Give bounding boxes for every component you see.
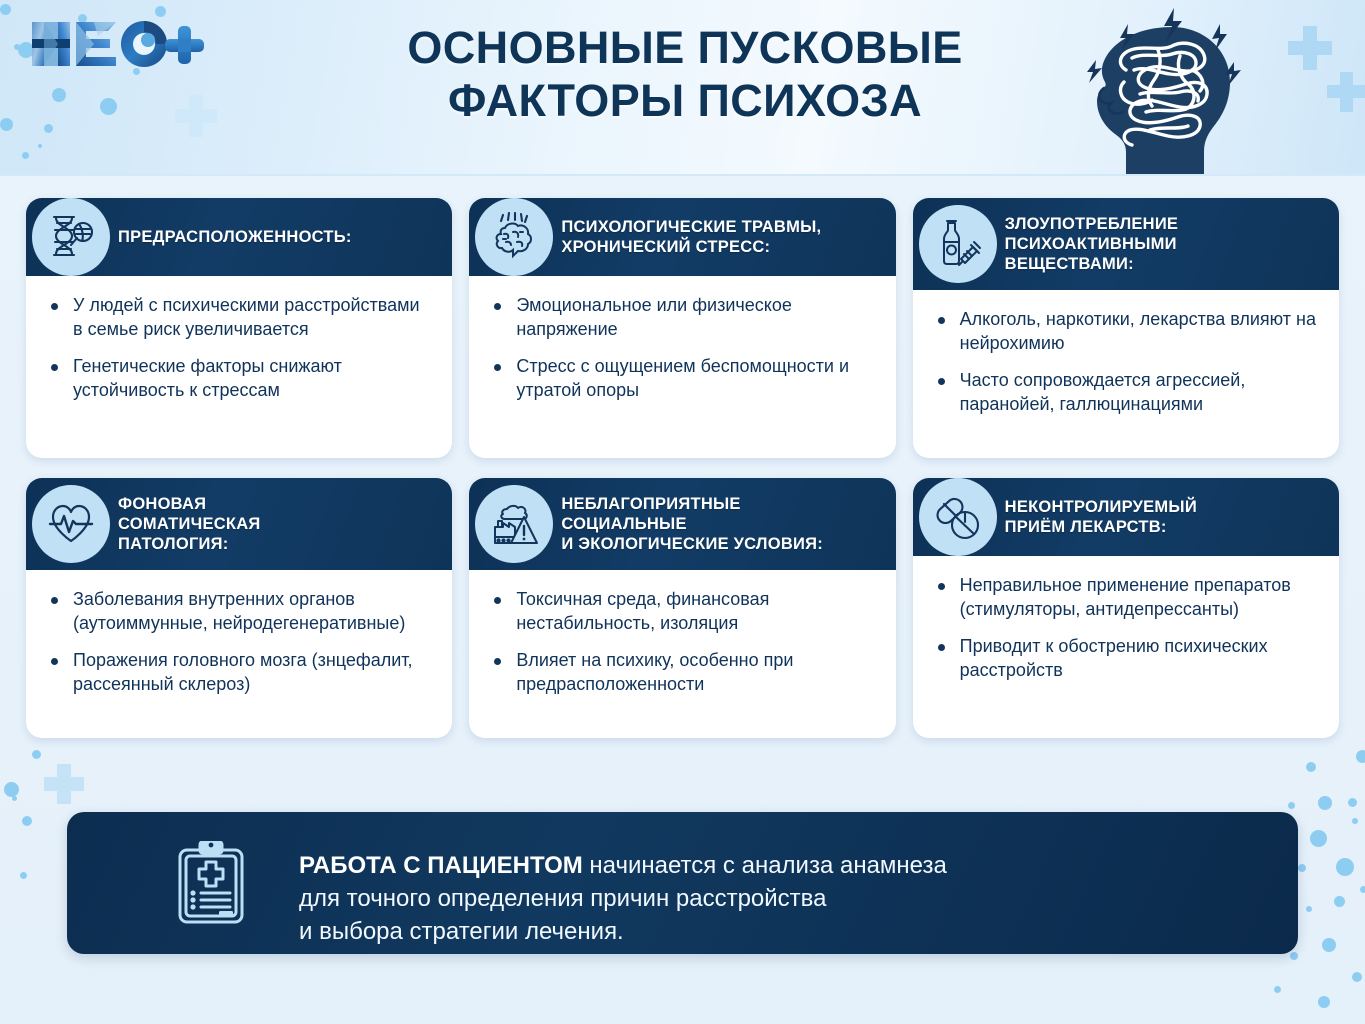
summary-banner: РАБОТА С ПАЦИЕНТОМ начинается с анализа … bbox=[67, 812, 1298, 954]
page-title-line2: ФАКТОРЫ ПСИХОЗА bbox=[300, 75, 1070, 128]
deco-dot bbox=[0, 4, 11, 15]
bullet-item: У людей с психическими расстройствами в … bbox=[48, 294, 432, 342]
dna-magnifier-icon bbox=[32, 198, 110, 276]
factor-card-predisposition[interactable]: ПРЕДРАСПОЛОЖЕННОСТЬ: У людей с психическ… bbox=[26, 198, 452, 458]
deco-dot bbox=[32, 750, 41, 759]
bullet-item: Стресс с ощущением беспомощности и утрат… bbox=[491, 355, 875, 403]
brand-logo[interactable] bbox=[28, 14, 206, 74]
card-header: ЗЛОУПОТРЕБЛЕНИЕ ПСИХОАКТИВНЫМИ ВЕЩЕСТВАМ… bbox=[913, 198, 1339, 290]
deco-dot bbox=[1288, 802, 1295, 809]
deco-cross-icon bbox=[1327, 72, 1365, 112]
deco-dot bbox=[1336, 858, 1354, 876]
card-title: ПСИХОЛОГИЧЕСКИЕ ТРАВМЫ, ХРОНИЧЕСКИЙ СТРЕ… bbox=[561, 217, 821, 258]
bullet-item: Генетические факторы снижают устойчивост… bbox=[48, 355, 432, 403]
factor-card-uncontrolled-medication[interactable]: НЕКОНТРОЛИРУЕМЫЙ ПРИЁМ ЛЕКАРСТВ: Неправи… bbox=[913, 478, 1339, 738]
deco-dot bbox=[1360, 886, 1365, 893]
bullet-list: Алкоголь, наркотики, лекарства влияют на… bbox=[935, 308, 1319, 417]
deco-dot bbox=[1318, 796, 1332, 810]
deco-dot bbox=[22, 152, 29, 159]
bullet-item: Влияет на психику, особенно при предрасп… bbox=[491, 649, 875, 697]
bullet-item: Алкоголь, наркотики, лекарства влияют на… bbox=[935, 308, 1319, 356]
card-header: ФОНОВАЯ СОМАТИЧЕСКАЯ ПАТОЛОГИЯ: bbox=[26, 478, 452, 570]
card-body: Заболевания внутренних органов (аутоимму… bbox=[26, 570, 452, 738]
card-title: ПРЕДРАСПОЛОЖЕННОСТЬ: bbox=[118, 227, 352, 247]
bullet-item: Токсичная среда, финансовая нестабильнос… bbox=[491, 588, 875, 636]
deco-dot bbox=[1348, 798, 1357, 807]
card-body: Алкоголь, наркотики, лекарства влияют на… bbox=[913, 290, 1339, 458]
deco-dot bbox=[1322, 938, 1336, 952]
card-body: Токсичная среда, финансовая нестабильнос… bbox=[469, 570, 895, 738]
bullet-item: Заболевания внутренних органов (аутоимму… bbox=[48, 588, 432, 636]
card-title: ЗЛОУПОТРЕБЛЕНИЕ ПСИХОАКТИВНЫМИ ВЕЩЕСТВАМ… bbox=[1005, 214, 1179, 275]
bottle-syringe-icon bbox=[919, 205, 997, 283]
deco-dot bbox=[44, 124, 53, 133]
card-title: ФОНОВАЯ СОМАТИЧЕСКАЯ ПАТОЛОГИЯ: bbox=[118, 494, 260, 555]
factor-card-social-ecological[interactable]: НЕБЛАГОПРИЯТНЫЕ СОЦИАЛЬНЫЕ И ЭКОЛОГИЧЕСК… bbox=[469, 478, 895, 738]
factor-card-substance-abuse[interactable]: ЗЛОУПОТРЕБЛЕНИЕ ПСИХОАКТИВНЫМИ ВЕЩЕСТВАМ… bbox=[913, 198, 1339, 458]
card-title: НЕБЛАГОПРИЯТНЫЕ СОЦИАЛЬНЫЕ И ЭКОЛОГИЧЕСК… bbox=[561, 494, 823, 555]
pills-icon bbox=[919, 478, 997, 556]
deco-dot bbox=[1306, 906, 1312, 912]
bullet-item: Часто сопровождается агрессией, паранойе… bbox=[935, 369, 1319, 417]
summary-banner-text: РАБОТА С ПАЦИЕНТОМ начинается с анализа … bbox=[299, 817, 947, 949]
header-band: ОСНОВНЫЕ ПУСКОВЫЕ ФАКТОРЫ ПСИХОЗА bbox=[0, 0, 1365, 176]
factor-card-somatic-pathology[interactable]: ФОНОВАЯ СОМАТИЧЕСКАЯ ПАТОЛОГИЯ: Заболева… bbox=[26, 478, 452, 738]
card-header: ПРЕДРАСПОЛОЖЕННОСТЬ: bbox=[26, 198, 452, 276]
card-body: Эмоциональное или физическое напряжение … bbox=[469, 276, 895, 458]
deco-dot bbox=[52, 88, 66, 102]
deco-dot bbox=[1310, 830, 1327, 847]
page-title: ОСНОВНЫЕ ПУСКОВЫЕ ФАКТОРЫ ПСИХОЗА bbox=[300, 22, 1070, 127]
bullet-item: Неправильное применение препаратов (стим… bbox=[935, 574, 1319, 622]
bullet-item: Поражения головного мозга (знцефалит, ра… bbox=[48, 649, 432, 697]
factor-card-psychological-trauma[interactable]: ПСИХОЛОГИЧЕСКИЕ ТРАВМЫ, ХРОНИЧЕСКИЙ СТРЕ… bbox=[469, 198, 895, 458]
bullet-list: Неправильное применение препаратов (стим… bbox=[935, 574, 1319, 683]
deco-cross-icon bbox=[1288, 26, 1332, 70]
deco-dot bbox=[1352, 972, 1362, 982]
deco-dot bbox=[1274, 986, 1281, 993]
deco-dot bbox=[38, 144, 42, 148]
deco-dot bbox=[12, 796, 17, 801]
clipboard-medical-icon bbox=[175, 841, 247, 925]
deco-dot bbox=[22, 816, 32, 826]
deco-dot bbox=[4, 782, 19, 797]
deco-dot bbox=[0, 118, 13, 131]
card-title: НЕКОНТРОЛИРУЕМЫЙ ПРИЁМ ЛЕКАРСТВ: bbox=[1005, 497, 1197, 538]
deco-cross-icon bbox=[175, 95, 217, 137]
card-header: НЕКОНТРОЛИРУЕМЫЙ ПРИЁМ ЛЕКАРСТВ: bbox=[913, 478, 1339, 556]
deco-dot bbox=[14, 44, 20, 50]
deco-dot bbox=[1352, 818, 1358, 824]
deco-dot bbox=[1298, 864, 1306, 872]
card-header: ПСИХОЛОГИЧЕСКИЕ ТРАВМЫ, ХРОНИЧЕСКИЙ СТРЕ… bbox=[469, 198, 895, 276]
deco-dot bbox=[100, 98, 117, 115]
page-title-line1: ОСНОВНЫЕ ПУСКОВЫЕ bbox=[300, 22, 1070, 75]
summary-banner-lead: РАБОТА С ПАЦИЕНТОМ bbox=[299, 852, 583, 879]
deco-dot bbox=[1290, 952, 1298, 960]
deco-dot bbox=[1306, 762, 1316, 772]
stressed-brain-icon bbox=[475, 198, 553, 276]
card-body: Неправильное применение препаратов (стим… bbox=[913, 556, 1339, 738]
card-body: У людей с психическими расстройствами в … bbox=[26, 276, 452, 458]
factory-warning-icon bbox=[475, 485, 553, 563]
head-silhouette-tangled-brain-icon bbox=[1054, 2, 1269, 176]
bullet-list: У людей с психическими расстройствами в … bbox=[48, 294, 432, 403]
bullet-list: Токсичная среда, финансовая нестабильнос… bbox=[491, 588, 875, 697]
deco-dot bbox=[1318, 996, 1330, 1008]
heart-pulse-icon bbox=[32, 485, 110, 563]
infographic-page: ОСНОВНЫЕ ПУСКОВЫЕ ФАКТОРЫ ПСИХОЗА bbox=[0, 0, 1365, 1024]
deco-dot bbox=[20, 872, 27, 879]
card-header: НЕБЛАГОПРИЯТНЫЕ СОЦИАЛЬНЫЕ И ЭКОЛОГИЧЕСК… bbox=[469, 478, 895, 570]
bullet-item: Эмоциональное или физическое напряжение bbox=[491, 294, 875, 342]
bullet-list: Эмоциональное или физическое напряжение … bbox=[491, 294, 875, 403]
bullet-list: Заболевания внутренних органов (аутоимму… bbox=[48, 588, 432, 697]
deco-dot bbox=[1334, 896, 1345, 907]
factor-card-grid: ПРЕДРАСПОЛОЖЕННОСТЬ: У людей с психическ… bbox=[26, 198, 1339, 738]
deco-cross-icon bbox=[44, 764, 84, 804]
deco-dot bbox=[1356, 750, 1365, 763]
bullet-item: Приводит к обострению психических расстр… bbox=[935, 635, 1319, 683]
